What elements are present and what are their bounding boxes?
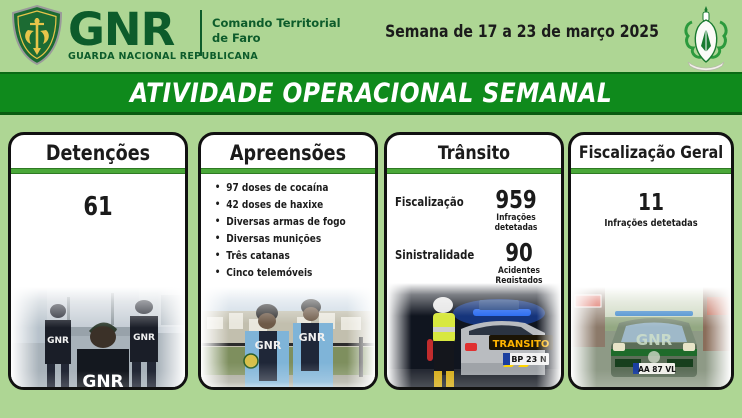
stat-sinistralidade: Sinistralidade 90 Acidentes Registados xyxy=(387,239,561,286)
card-rule xyxy=(11,168,185,174)
detencoes-value: 61 xyxy=(20,192,177,222)
card-body-transito: Fiscalização 959 Infrações detetadas Sin… xyxy=(387,186,561,390)
card-title-apreensoes: Apreensões xyxy=(207,135,369,166)
card-body-fiscalizacao-geral: 11 Infrações detetadas xyxy=(571,190,731,390)
fiscalizacao-geral-value: 11 xyxy=(579,190,723,216)
svg-text:GNR: GNR xyxy=(299,331,326,344)
header-vertical-divider xyxy=(200,10,202,56)
command-territorial-label: Comando Territorial de Faro xyxy=(212,16,341,46)
banner-title: ATIVIDADE OPERACIONAL SEMANAL xyxy=(130,78,612,109)
stat-value: 90 xyxy=(487,239,550,266)
card-rule xyxy=(387,168,561,174)
faro-coat-of-arms-icon xyxy=(676,2,736,72)
command-line-2: de Faro xyxy=(212,31,341,46)
svg-text:BP 23 N: BP 23 N xyxy=(511,355,546,364)
card-title-fiscalizacao-geral: Fiscalização Geral xyxy=(577,135,726,166)
infographic-page: GNR GUARDA NACIONAL REPUBLICANA Comando … xyxy=(0,0,742,418)
week-range-label: Semana de 17 a 23 de março 2025 xyxy=(384,22,660,42)
svg-text:GNR: GNR xyxy=(255,339,282,352)
apreensoes-list: 97 doses de cocaína 42 doses de haxixe D… xyxy=(201,180,375,282)
card-apreensoes[interactable]: Apreensões 97 doses de cocaína 42 doses … xyxy=(198,132,378,390)
fiscalizacao-geral-caption: Infrações detetadas xyxy=(577,218,724,229)
card-detencoes[interactable]: Detenções 61 xyxy=(8,132,188,390)
list-item: Diversas armas de fogo xyxy=(213,214,361,231)
gnr-wordmark-sub: GUARDA NACIONAL REPUBLICANA xyxy=(68,52,258,62)
photo-night-traffic-patrol: TRANSITO BP 23 N xyxy=(387,283,561,390)
stat-value: 959 xyxy=(482,186,551,213)
section-banner: ATIVIDADE OPERACIONAL SEMANAL xyxy=(0,72,742,115)
gnr-shield-icon xyxy=(8,4,66,66)
card-title-transito: Trânsito xyxy=(393,135,555,166)
list-item: Cinco telemóveis xyxy=(213,265,361,282)
card-body-apreensoes: 97 doses de cocaína 42 doses de haxixe D… xyxy=(201,180,375,390)
svg-text:TRANSITO: TRANSITO xyxy=(493,339,550,350)
card-fiscalizacao-geral[interactable]: Fiscalização Geral 11 Infrações detetada… xyxy=(568,132,734,390)
photo-two-gnr-officers-overlook: GNR GNR xyxy=(201,287,375,390)
list-item: Três catanas xyxy=(213,248,361,265)
photo-gnr-patrol-car: GNR AA 87 VL xyxy=(571,287,731,390)
svg-text:GNR: GNR xyxy=(133,333,155,343)
list-item: Diversas munições xyxy=(213,231,361,248)
card-body-detencoes: 61 xyxy=(11,192,185,390)
stat-fiscalizacao: Fiscalização 959 Infrações detetadas xyxy=(387,186,561,233)
svg-text:GNR: GNR xyxy=(82,372,123,390)
svg-text:GNR: GNR xyxy=(636,331,673,349)
stat-caption: Infrações detetadas xyxy=(480,213,553,233)
card-transito[interactable]: Trânsito Fiscalização 959 Infrações dete… xyxy=(384,132,564,390)
list-item: 97 doses de cocaína xyxy=(213,180,361,197)
svg-text:AA 87 VL: AA 87 VL xyxy=(638,365,676,374)
photo-three-gnr-officers: GNR GNR xyxy=(11,287,185,390)
card-rule xyxy=(201,168,375,174)
svg-text:GNR: GNR xyxy=(47,336,69,346)
header-bar: GNR GUARDA NACIONAL REPUBLICANA Comando … xyxy=(0,0,742,72)
stat-label: Sinistralidade xyxy=(395,239,474,262)
card-title-detencoes: Detenções xyxy=(17,135,179,166)
stat-label: Fiscalização xyxy=(395,186,469,209)
list-item: 42 doses de haxixe xyxy=(213,197,361,214)
card-rule xyxy=(571,168,731,174)
command-line-1: Comando Territorial xyxy=(212,16,341,31)
cards-row: Detenções 61 xyxy=(0,132,742,394)
